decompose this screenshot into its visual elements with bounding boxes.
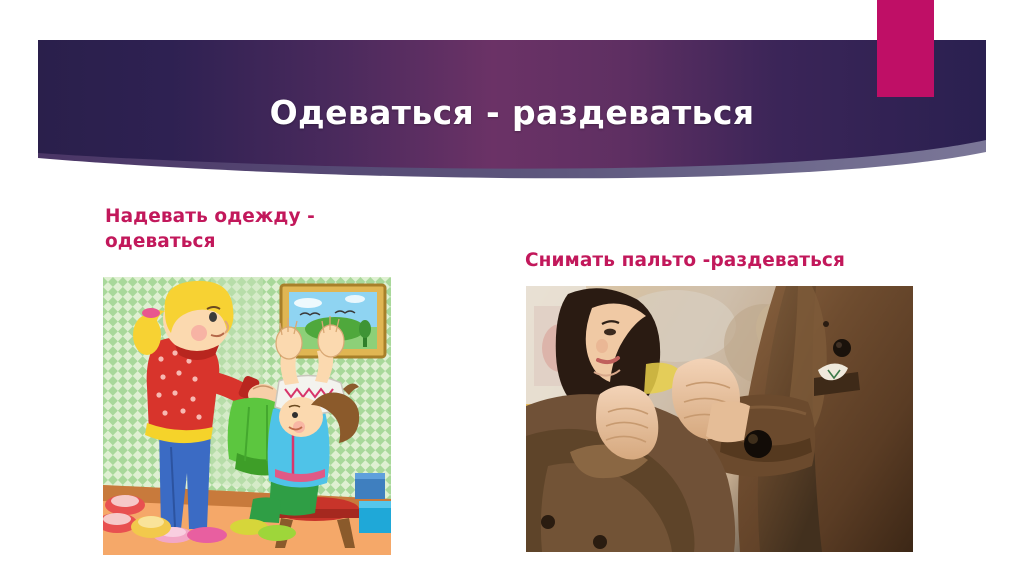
caption-undressing: Снимать пальто -раздеваться — [525, 248, 935, 273]
slide-canvas: Одеваться - раздеваться Надевать одежду … — [0, 0, 1024, 576]
content-area: Надевать одежду - одеваться Снимать паль… — [0, 190, 1024, 576]
caption-dressing: Надевать одежду - одеваться — [105, 204, 405, 254]
page-title: Одеваться - раздеваться — [38, 93, 986, 133]
dressing-child-illustration — [103, 277, 391, 555]
removing-coat-photo — [526, 286, 913, 552]
dressing-illustration-art — [103, 277, 391, 555]
coat-photo-art — [526, 286, 913, 552]
title-banner: Одеваться - раздеваться — [0, 0, 1024, 190]
accent-bar — [877, 0, 934, 97]
